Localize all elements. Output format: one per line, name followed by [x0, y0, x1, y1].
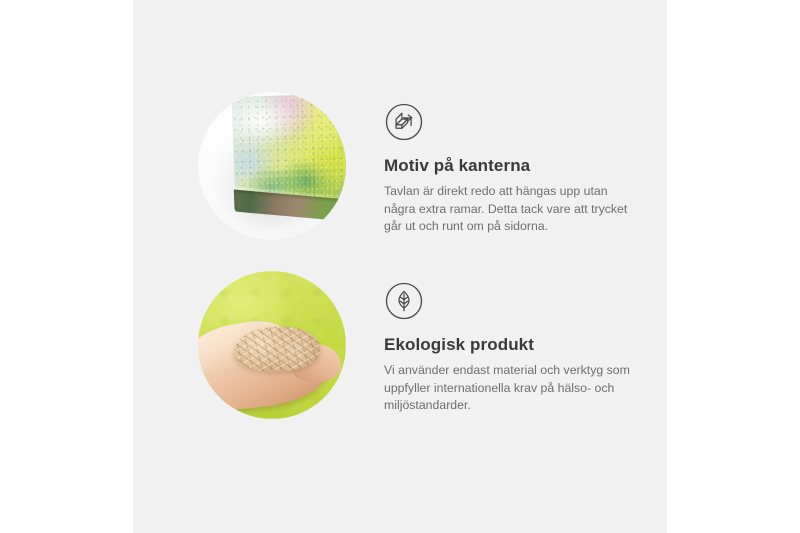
- feature-title: Motiv på kanterna: [384, 156, 636, 176]
- feature-text-eco-product: Ekologisk produkt Vi använder endast mat…: [346, 271, 636, 415]
- leaf-icon: [384, 281, 424, 321]
- content-panel: [133, 0, 667, 533]
- feature-block-eco-product: Ekologisk produkt Vi använder endast mat…: [198, 271, 636, 419]
- eco-hands-photo: [198, 271, 346, 419]
- canvas-print-object: [231, 93, 346, 236]
- feature-block-canvas-edges: Motiv på kanterna Tavlan är direkt redo …: [198, 92, 636, 240]
- feature-description: Tavlan är direkt redo att hängas upp uta…: [384, 183, 636, 235]
- page-root: Motiv på kanterna Tavlan är direkt redo …: [0, 0, 800, 533]
- canvas-print-photo-wrap: [198, 92, 346, 240]
- eco-hands-photo-wrap: [198, 271, 346, 419]
- canvas-print-photo: [198, 92, 346, 240]
- feature-title: Ekologisk produkt: [384, 335, 636, 355]
- feature-description: Vi använder endast material och verktyg …: [384, 362, 636, 414]
- canvas-wrapped-edges-icon: [384, 102, 424, 142]
- feature-text-canvas-edges: Motiv på kanterna Tavlan är direkt redo …: [346, 92, 636, 236]
